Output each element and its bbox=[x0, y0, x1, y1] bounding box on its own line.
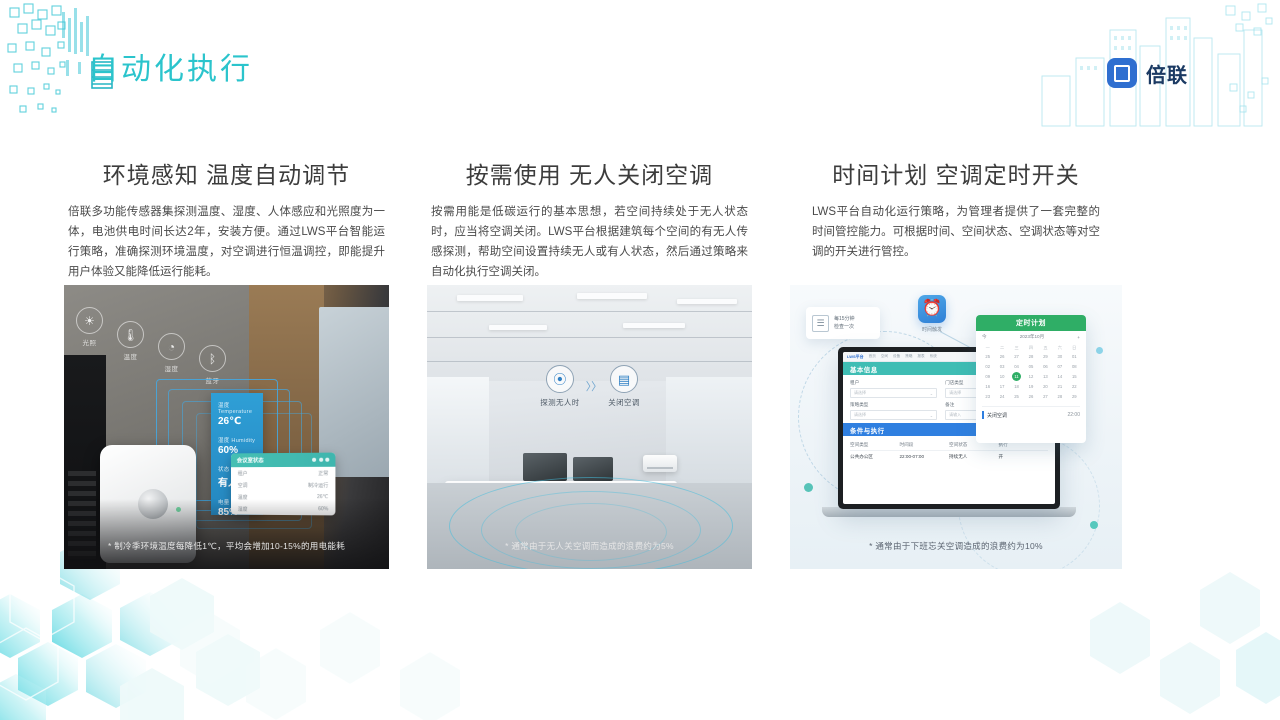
calendar-day-09[interactable]: 09 bbox=[981, 372, 994, 381]
panel-1-bottom-fade bbox=[64, 499, 389, 569]
weekday-3: 四 bbox=[1024, 343, 1037, 352]
col-space-type: 空间类型 bbox=[850, 442, 900, 448]
event-color-bar-icon bbox=[982, 411, 984, 419]
field-remark-placeholder: 请输入 bbox=[949, 412, 961, 418]
cell-time-range: 22:00-07:00 bbox=[900, 454, 950, 460]
calendar-day-03[interactable]: 03 bbox=[995, 362, 1008, 371]
calendar-day-19[interactable]: 19 bbox=[1024, 382, 1037, 391]
calendar-day-23[interactable]: 23 bbox=[981, 392, 994, 401]
signal-wave bbox=[515, 503, 667, 561]
field-policy-type-label: 策略类型 bbox=[850, 402, 937, 408]
calendar-day-15[interactable]: 15 bbox=[1068, 372, 1081, 381]
status-row-1-key: 空调 bbox=[238, 482, 248, 489]
col-time-range: 时间段 bbox=[900, 442, 950, 448]
calendar-day-29[interactable]: 29 bbox=[1068, 392, 1081, 401]
bluetooth-glyph: ᛒ bbox=[199, 345, 226, 372]
calendar-day-18[interactable]: 18 bbox=[1010, 382, 1023, 391]
panel-2-caption: * 通常由于无人关空调而造成的浪费约为5% bbox=[427, 540, 752, 552]
schedule-calendar-card: 定时计划 今 2023年10月 + 一 二 三 四 五 六 日 25262728… bbox=[976, 315, 1086, 443]
calendar-day-13[interactable]: 13 bbox=[1039, 372, 1052, 381]
calendar-today-button[interactable]: 今 bbox=[982, 334, 987, 340]
calendar-day-04[interactable]: 04 bbox=[1010, 362, 1023, 371]
calendar-day-29[interactable]: 29 bbox=[1039, 352, 1052, 361]
ceiling-line bbox=[427, 361, 752, 362]
field-tenant-input[interactable]: 请选择 ⌄ bbox=[850, 388, 937, 398]
humidity-sensor-label: 湿度 bbox=[158, 363, 185, 373]
calendar-event-row[interactable]: 关闭空调 22:00 bbox=[982, 406, 1080, 419]
column-2-title: 按需使用 无人关闭空调 bbox=[427, 160, 752, 190]
field-policy-type-input[interactable]: 请选择 ⌄ bbox=[850, 410, 937, 420]
nav-item-0[interactable]: 首页 bbox=[869, 354, 876, 359]
column-3-body: LWS平台自动化运行策略，为管理者提供了一套完整的时间管控能力。可根据时间、空间… bbox=[790, 202, 1122, 262]
check-interval-line2: 检查一次 bbox=[834, 323, 855, 331]
nav-item-1[interactable]: 空间 bbox=[881, 354, 888, 359]
cell-action: 开 bbox=[999, 454, 1049, 460]
humidity-sensor-icon: ◔ 湿度 bbox=[158, 333, 185, 373]
ceiling-lamp bbox=[623, 323, 685, 328]
weekday-1: 二 bbox=[995, 343, 1008, 352]
status-row-0-key: 租户 bbox=[238, 470, 248, 477]
chevron-down-icon: ⌄ bbox=[930, 391, 933, 396]
cell-space-type: 公共办公区 bbox=[850, 454, 900, 460]
ceiling-lamp bbox=[577, 293, 647, 299]
field-tenant-label: 租户 bbox=[850, 380, 937, 386]
check-interval-card: ☰ 每15分钟 检查一次 bbox=[806, 307, 880, 339]
readout-1-key: 湿度 Humidity bbox=[218, 436, 256, 444]
panel-1-caption: * 制冷季环境温度每降低1℃，平均会增加10-15%的用电能耗 bbox=[64, 540, 389, 552]
readout-0-value: 26℃ bbox=[218, 416, 256, 427]
calendar-day-21[interactable]: 21 bbox=[1053, 382, 1066, 391]
field-policy-type: 策略类型 请选择 ⌄ bbox=[850, 402, 937, 420]
panel-environment-sensor-image: ☀ 光照 🌡 温度 ◔ 湿度 ᛒ 蓝牙 温度 Temperature 26℃ 湿… bbox=[64, 285, 389, 569]
status-card-row: 租户 正常 bbox=[231, 467, 335, 479]
cell-space-status: 持续无人 bbox=[949, 454, 999, 460]
alarm-clock-icon: ⏰ bbox=[918, 295, 946, 323]
monitor bbox=[523, 453, 567, 481]
column-on-demand-use: 按需使用 无人关闭空调 按需用能是低碳运行的基本思想，若空间持续处于无人状态时，… bbox=[427, 160, 752, 282]
calendar-day-12[interactable]: 12 bbox=[1024, 372, 1037, 381]
calendar-day-11[interactable]: 11 bbox=[1012, 372, 1021, 381]
status-card-title: 会议室状态 bbox=[237, 456, 264, 464]
column-1-body: 倍联多功能传感器集探测温度、湿度、人体感应和光照度为一体，电池供电时间长达2年，… bbox=[64, 202, 389, 282]
air-conditioner-off-glyph: ▤ bbox=[610, 365, 638, 393]
panel-office-image: ⦿ 探测无人时 〉〉 ▤ 关闭空调 * 通常由于无人关空调而造成的浪费约为5% bbox=[427, 285, 752, 569]
decor-dot bbox=[804, 483, 813, 492]
column-time-schedule: 时间计划 空调定时开关 LWS平台自动化运行策略，为管理者提供了一套完整的时间管… bbox=[790, 160, 1122, 262]
ceiling-line bbox=[427, 337, 752, 338]
status-card-header: 会议室状态 bbox=[231, 453, 335, 468]
calendar-month-label: 2023年10月 bbox=[1020, 334, 1045, 340]
calendar-event-time: 22:00 bbox=[1067, 412, 1080, 418]
calendar-day-26[interactable]: 26 bbox=[1024, 392, 1037, 401]
decor-dot bbox=[1096, 347, 1103, 354]
calendar-day-02[interactable]: 02 bbox=[981, 362, 994, 371]
calendar-day-16[interactable]: 16 bbox=[981, 382, 994, 391]
calendar-add-button[interactable]: + bbox=[1077, 335, 1080, 340]
column-1-title: 环境感知 温度自动调节 bbox=[64, 160, 389, 190]
ceiling-lamp bbox=[489, 325, 547, 330]
calendar-event-name-group: 关闭空调 bbox=[982, 411, 1007, 419]
ceiling-lamp bbox=[457, 295, 523, 301]
weekday-5: 六 bbox=[1053, 343, 1066, 352]
calendar-day-25[interactable]: 25 bbox=[981, 352, 994, 361]
calendar-day-17[interactable]: 17 bbox=[995, 382, 1008, 391]
calendar-day-22[interactable]: 22 bbox=[1068, 382, 1081, 391]
weekday-4: 五 bbox=[1039, 343, 1052, 352]
panel-2-window-left bbox=[427, 377, 489, 497]
panel-3-caption: * 通常由于下班忘关空调造成的浪费约为10% bbox=[790, 540, 1122, 552]
column-2-body: 按需用能是低碳运行的基本思想，若空间持续处于无人状态时，应当将空调关闭。LWS平… bbox=[427, 202, 752, 282]
calendar-day-01[interactable]: 01 bbox=[1068, 352, 1081, 361]
calendar-day-08[interactable]: 08 bbox=[1068, 362, 1081, 371]
ceiling-lamp bbox=[677, 299, 737, 304]
calendar-day-30[interactable]: 30 bbox=[1053, 352, 1066, 361]
occupancy-detect-glyph: ⦿ bbox=[546, 365, 574, 393]
temperature-sensor-icon: 🌡 温度 bbox=[117, 321, 144, 361]
chevron-down-icon: ⌄ bbox=[930, 413, 933, 418]
air-conditioner-off-label: 关闭空调 bbox=[608, 397, 640, 408]
temperature-sensor-label: 温度 bbox=[117, 351, 144, 361]
nav-item-2[interactable]: 设备 bbox=[893, 354, 900, 359]
field-tenant-placeholder: 请选择 bbox=[854, 390, 866, 396]
calendar-weekday-row: 一 二 三 四 五 六 日 bbox=[976, 343, 1086, 352]
panel-schedule-dashboard-image: ☰ 每15分钟 检查一次 ⏰ 时间触发 LWS平台 首页 空间 设备 策略 报表… bbox=[790, 285, 1122, 569]
calendar-day-14[interactable]: 14 bbox=[1053, 372, 1066, 381]
calendar-day-28[interactable]: 28 bbox=[1053, 392, 1066, 401]
table-row: 公共办公区 22:00-07:00 持续无人 开 bbox=[850, 451, 1048, 462]
calendar-day-grid[interactable]: 2526272829300102030405060708091011121314… bbox=[976, 352, 1086, 401]
status-card-row: 空调 制冷运行 bbox=[231, 479, 335, 491]
calendar-day-10[interactable]: 10 bbox=[995, 372, 1008, 381]
calendar-day-27[interactable]: 27 bbox=[1010, 352, 1023, 361]
calendar-day-28[interactable]: 28 bbox=[1024, 352, 1037, 361]
status-row-0-value: 正常 bbox=[318, 469, 328, 476]
readout-0-key: 温度 Temperature bbox=[218, 401, 256, 415]
calendar-day-27[interactable]: 27 bbox=[1039, 392, 1052, 401]
panel-2-step-icons: ⦿ 探测无人时 〉〉 ▤ 关闭空调 bbox=[515, 365, 665, 408]
nav-item-5[interactable]: 系统 bbox=[930, 354, 937, 359]
light-sensor-icon: ☀ 光照 bbox=[76, 307, 103, 347]
weekday-0: 一 bbox=[981, 343, 994, 352]
decor-dot bbox=[1090, 521, 1098, 529]
field-policy-type-placeholder: 请选择 bbox=[854, 412, 866, 418]
check-interval-text: 每15分钟 检查一次 bbox=[834, 315, 855, 331]
occupancy-detect-icon: ⦿ 探测无人时 bbox=[540, 365, 580, 408]
calendar-day-24[interactable]: 24 bbox=[995, 392, 1008, 401]
calendar-day-07[interactable]: 07 bbox=[1053, 362, 1066, 371]
ceiling-line bbox=[427, 311, 752, 312]
calendar-day-25[interactable]: 25 bbox=[1010, 392, 1023, 401]
weekday-6: 日 bbox=[1068, 343, 1081, 352]
calendar-day-06[interactable]: 06 bbox=[1039, 362, 1052, 371]
calendar-day-20[interactable]: 20 bbox=[1039, 382, 1052, 391]
calendar-day-26[interactable]: 26 bbox=[995, 352, 1008, 361]
check-interval-line1: 每15分钟 bbox=[834, 315, 855, 323]
status-card-dots-icon bbox=[312, 458, 329, 462]
column-3-title: 时间计划 空调定时开关 bbox=[790, 160, 1122, 190]
field-tenant: 租户 请选择 ⌄ bbox=[850, 380, 937, 398]
checklist-icon: ☰ bbox=[812, 315, 829, 332]
field-store-type-placeholder: 请选择 bbox=[949, 390, 961, 396]
signal-arrow-icon: 〉〉 bbox=[586, 374, 603, 400]
occupancy-detect-label: 探测无人时 bbox=[540, 397, 580, 408]
time-trigger-badge: ⏰ 时间触发 bbox=[915, 295, 949, 333]
light-sensor-glyph: ☀ bbox=[76, 307, 103, 334]
humidity-sensor-glyph: ◔ bbox=[158, 333, 185, 360]
air-conditioner-off-icon: ▤ 关闭空调 bbox=[608, 365, 640, 408]
calendar-toolbar: 今 2023年10月 + bbox=[976, 331, 1086, 343]
column-environment-sensing: 环境感知 温度自动调节 倍联多功能传感器集探测温度、湿度、人体感应和光照度为一体… bbox=[64, 160, 389, 282]
dashboard-brand: LWS平台 bbox=[847, 354, 864, 360]
weekday-2: 三 bbox=[1010, 343, 1023, 352]
status-row-1-value: 制冷运行 bbox=[308, 481, 328, 488]
calendar-title: 定时计划 bbox=[976, 315, 1086, 331]
nav-item-4[interactable]: 报表 bbox=[917, 354, 924, 359]
nav-item-3[interactable]: 策略 bbox=[905, 354, 912, 359]
air-conditioner-unit bbox=[643, 455, 677, 472]
temperature-sensor-glyph: 🌡 bbox=[117, 321, 144, 348]
time-trigger-label: 时间触发 bbox=[915, 326, 949, 333]
calendar-day-05[interactable]: 05 bbox=[1024, 362, 1037, 371]
light-sensor-label: 光照 bbox=[76, 337, 103, 347]
calendar-event-name: 关闭空调 bbox=[987, 412, 1007, 419]
